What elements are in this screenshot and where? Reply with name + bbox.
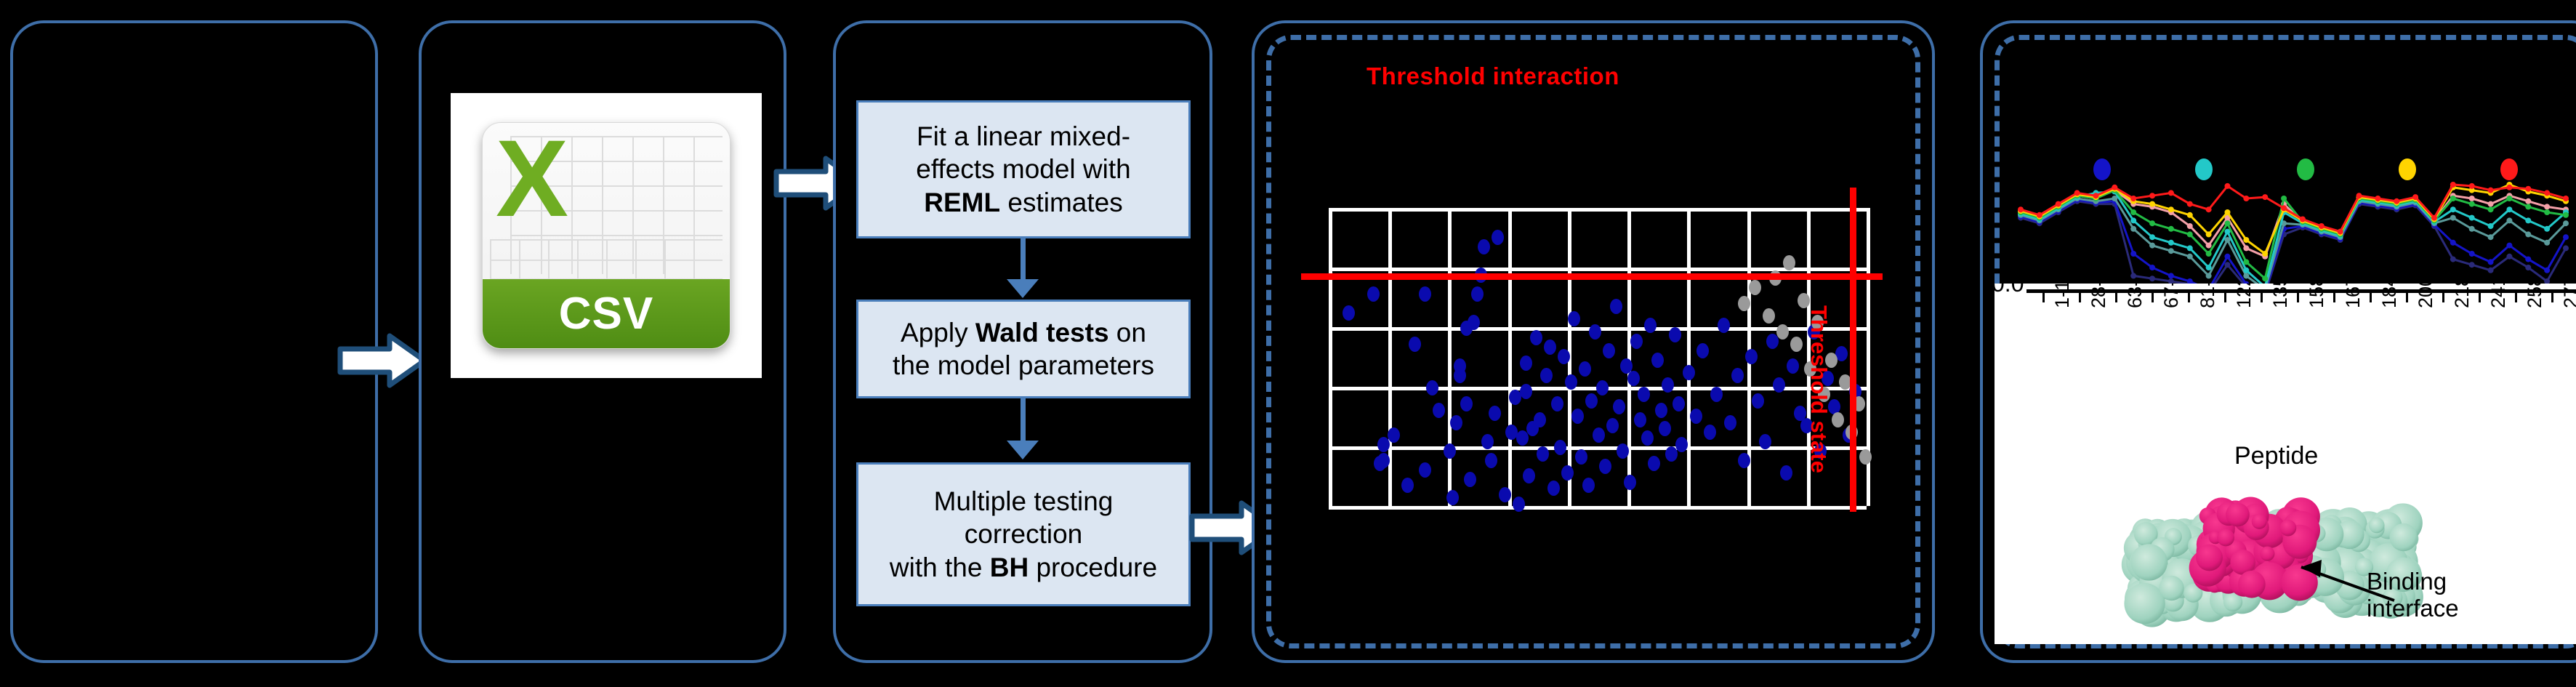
binding-interface-atom	[2217, 529, 2234, 547]
scatter-point	[1690, 409, 1702, 424]
x-axis-tick	[2479, 289, 2481, 302]
series-marker	[2224, 220, 2230, 226]
series-marker	[2450, 257, 2456, 262]
step2-bold-wald: Wald tests	[975, 318, 1109, 347]
series-red-legend-dot	[2500, 158, 2518, 180]
series-marker	[2431, 215, 2437, 221]
x-axis-tick	[2297, 289, 2299, 302]
series-marker	[2262, 251, 2268, 257]
series-marker	[2412, 194, 2418, 200]
grid-line-h	[1329, 446, 1867, 450]
series-marker	[2187, 245, 2193, 251]
x-axis-title: Peptide	[2234, 442, 2318, 470]
series-marker	[2563, 220, 2569, 226]
scatter-point	[1478, 239, 1490, 254]
scatter-point	[1641, 430, 1654, 446]
series-marker	[2563, 234, 2569, 240]
x-axis-tick-label: 277-284	[2560, 284, 2576, 308]
threshold-interaction-line	[1301, 273, 1883, 280]
series-marker	[2319, 223, 2325, 229]
step3-bold-bh: BH	[990, 553, 1029, 582]
x-axis-tick-label: 167-180	[2342, 284, 2364, 308]
series-marker	[2394, 198, 2399, 204]
scatter-point	[1627, 371, 1640, 386]
series-marker	[2469, 262, 2475, 268]
scatter-point	[1547, 481, 1560, 496]
scatter-point	[1613, 399, 1625, 414]
scatter-point	[1752, 393, 1764, 409]
binding-interface-atom	[2226, 503, 2250, 527]
step1-tail: estimates	[1000, 188, 1123, 217]
series-marker	[2469, 183, 2475, 189]
csv-format-label: CSV	[559, 288, 653, 340]
scatter-point	[1444, 443, 1456, 459]
scatter-point	[1551, 396, 1563, 411]
series-marker	[2300, 217, 2306, 222]
series-marker	[2544, 209, 2550, 215]
series-marker	[2056, 201, 2061, 207]
protein-surface-atom	[2159, 576, 2183, 600]
series-marker	[2187, 212, 2193, 218]
series-line	[2021, 192, 2566, 287]
series-marker	[2130, 209, 2136, 215]
series-marker	[2563, 245, 2569, 251]
scatter-point	[1454, 358, 1466, 374]
series-marker	[2281, 205, 2287, 211]
protein-surface-atom	[2130, 544, 2167, 580]
series-marker	[2168, 226, 2174, 232]
series-marker	[2112, 185, 2117, 190]
series-marker	[2469, 226, 2475, 232]
series-marker	[2525, 198, 2531, 204]
series-marker	[2506, 196, 2512, 201]
grid-line-h	[1329, 506, 1867, 510]
process-step-wald-tests[interactable]: Apply Wald tests on the model parameters	[856, 300, 1191, 398]
scatter-point	[1718, 318, 1730, 333]
scatter-point	[1516, 430, 1529, 446]
results-figure-card: 0.0 1-1528-4463-7367-7581-101122-129135-…	[1995, 284, 2576, 644]
series-marker	[2206, 251, 2212, 257]
scatter-point	[1582, 478, 1595, 493]
scatter-point	[1780, 465, 1792, 481]
series-marker	[2243, 273, 2249, 278]
series-marker	[2243, 196, 2249, 201]
series-marker	[2224, 254, 2230, 260]
binding-interface-atom	[2238, 571, 2266, 598]
protein-surface-atom	[2124, 583, 2165, 624]
series-marker	[2187, 231, 2193, 237]
protein-surface-structure	[2016, 478, 2423, 631]
x-axis-tick	[2079, 289, 2081, 302]
connector-step1-step2	[1021, 238, 1026, 281]
series-marker	[2525, 257, 2531, 262]
scatter-point	[1610, 299, 1622, 314]
x-axis-tick	[2442, 289, 2444, 302]
series-marker	[2262, 276, 2268, 281]
scatter-point	[1565, 374, 1577, 390]
scatter-point	[1759, 434, 1771, 449]
x-axis-tick	[2224, 289, 2226, 302]
scatter-point	[1513, 497, 1525, 512]
series-marker	[2450, 196, 2456, 201]
series-marker	[2525, 217, 2531, 223]
series-marker	[2525, 204, 2531, 209]
scatter-point	[1554, 440, 1566, 455]
series-marker	[2563, 196, 2569, 201]
x-axis-tick-label: 158-166	[2306, 284, 2328, 308]
scatter-point	[1520, 384, 1532, 399]
x-axis-tick-label: 241-257	[2487, 284, 2510, 308]
x-axis-tick-label: 28-44	[2088, 284, 2110, 308]
series-marker	[2450, 215, 2456, 221]
series-marker	[2130, 226, 2136, 232]
scatter-point	[1523, 468, 1535, 483]
series-marker	[2506, 254, 2512, 260]
series-dark-blue-legend-dot	[2093, 158, 2111, 180]
process-step-fit-model[interactable]: Fit a linear mixed- effects model with R…	[856, 100, 1191, 238]
step2-tail: on	[1109, 318, 1146, 347]
grid-line-h	[1329, 208, 1867, 212]
x-axis-tick-label: 184-199	[2378, 284, 2401, 308]
series-marker	[2187, 254, 2193, 260]
scatter-point	[1426, 380, 1438, 395]
grid-line-v	[1508, 208, 1512, 506]
scatter-point	[1599, 459, 1611, 474]
series-marker	[2168, 273, 2174, 278]
scatter-point	[1481, 434, 1494, 449]
scatter-point	[1568, 311, 1580, 326]
series-marker	[2488, 223, 2494, 229]
series-marker	[2187, 223, 2193, 229]
series-marker	[2450, 182, 2456, 188]
binding-interface-atom	[2252, 514, 2267, 529]
x-axis-tick-label: 63-73	[2124, 284, 2146, 308]
scatter-point	[1579, 361, 1591, 377]
y-axis-zero-label: 0.0	[1995, 284, 2024, 297]
series-marker	[2168, 206, 2174, 212]
series-marker	[2506, 217, 2512, 223]
scatter-point	[1377, 437, 1390, 452]
x-axis-tick-label: 200-214	[2415, 284, 2437, 308]
series-marker	[2525, 265, 2531, 270]
series-marker	[2525, 231, 2531, 237]
x-axis-tick	[2333, 289, 2335, 302]
threshold-state-line	[1850, 188, 1856, 512]
series-marker	[2262, 194, 2268, 200]
scatter-point	[1433, 403, 1445, 418]
grid-line-v	[1448, 208, 1452, 506]
scatter-point	[1534, 412, 1546, 427]
threshold-state-label: Threshold state	[1806, 305, 1832, 473]
scatter-point	[1540, 368, 1553, 383]
series-marker	[2488, 201, 2494, 207]
step3-line1: Multiple testing	[934, 486, 1114, 516]
grid-line-v	[1687, 208, 1691, 506]
series-marker	[2488, 259, 2494, 265]
x-axis-tick-label: 122-129	[2233, 284, 2255, 308]
scatter-point	[1651, 353, 1664, 368]
scatter-point	[1673, 396, 1685, 411]
series-marker	[2149, 265, 2155, 270]
scatter-point	[1638, 387, 1650, 402]
step2-line2: the model parameters	[893, 350, 1154, 380]
scatter-point	[1575, 449, 1587, 465]
scatter-point	[1589, 324, 1601, 340]
scatter-point	[1388, 427, 1400, 443]
series-cyan-legend-dot	[2195, 158, 2213, 180]
scatter-point	[1731, 368, 1744, 383]
connector-arrowhead-1	[1007, 279, 1039, 298]
scatter-point	[1749, 280, 1761, 295]
series-marker	[2544, 204, 2550, 209]
scatter-point	[1648, 456, 1660, 471]
series-marker	[2281, 196, 2287, 201]
connector-arrowhead-2	[1007, 441, 1039, 459]
x-axis-tick	[2551, 289, 2553, 302]
series-marker	[2074, 190, 2080, 196]
step3-line3-lead: with the	[890, 553, 990, 582]
series-marker	[2450, 206, 2456, 212]
series-marker	[2243, 237, 2249, 243]
x-axis-tick	[2515, 289, 2517, 302]
binding-label-line2: interface	[2367, 595, 2459, 622]
scatter-point	[1520, 355, 1532, 371]
connector-step2-step3	[1021, 398, 1026, 442]
series-marker	[2224, 183, 2230, 189]
scatter-point	[1606, 418, 1619, 433]
scatter-point	[1499, 487, 1511, 502]
series-marker	[2224, 209, 2230, 215]
x-axis-tick-label: 1-15	[2051, 284, 2074, 308]
series-line	[2021, 185, 2566, 254]
scatter-point	[1724, 415, 1736, 430]
scatter-point	[1492, 230, 1504, 245]
binding-label-line1: Binding	[2367, 569, 2459, 595]
csv-file-icon: X CSV	[451, 93, 762, 378]
series-marker	[2168, 190, 2174, 196]
scatter-point	[1409, 337, 1421, 352]
scatter-point	[1710, 387, 1723, 402]
series-marker	[2544, 268, 2550, 273]
scatter-point	[1419, 462, 1431, 478]
scatter-point	[1593, 427, 1605, 443]
series-marker	[2544, 226, 2550, 232]
series-marker	[2506, 243, 2512, 249]
x-axis-tick	[2042, 289, 2045, 302]
excel-x-letter-icon: X	[496, 127, 568, 229]
scatter-plot	[1329, 208, 1867, 506]
step3-line3-tail: procedure	[1029, 553, 1157, 582]
series-marker	[2130, 251, 2136, 257]
series-marker	[2544, 240, 2550, 246]
scatter-point	[1561, 465, 1574, 481]
binding-interface-atom	[2260, 547, 2274, 561]
scatter-point	[1696, 343, 1709, 358]
series-marker	[2243, 245, 2249, 251]
series-marker	[2488, 268, 2494, 273]
step3-line2: correction	[965, 519, 1082, 549]
scatter-point	[1596, 380, 1609, 395]
series-marker	[2338, 229, 2343, 235]
scatter-point	[1401, 478, 1414, 493]
series-marker	[2469, 215, 2475, 221]
scatter-point	[1773, 377, 1785, 393]
series-marker	[2206, 273, 2212, 278]
series-legend-dots	[2093, 158, 2544, 180]
threshold-interaction-label: Threshold interaction	[1367, 63, 1619, 90]
series-marker	[2450, 240, 2456, 246]
x-axis-tick-label: 258-266	[2524, 284, 2546, 308]
scatter-point	[1544, 340, 1556, 355]
series-marker	[2168, 248, 2174, 254]
series-marker	[2224, 262, 2230, 268]
series-marker	[2525, 186, 2531, 192]
scatter-point	[1790, 337, 1803, 352]
series-marker	[2488, 234, 2494, 240]
series-marker	[2149, 193, 2155, 198]
series-marker	[2563, 212, 2569, 218]
series-marker	[2206, 265, 2212, 270]
scatter-point	[1617, 443, 1629, 459]
scatter-point	[1787, 358, 1799, 374]
scatter-point	[1655, 403, 1667, 418]
series-marker	[2206, 243, 2212, 249]
x-axis-tick	[2115, 289, 2117, 302]
scatter-point	[1738, 453, 1750, 468]
x-axis-tick-label: 135-144	[2269, 284, 2292, 308]
series-marker	[2356, 193, 2362, 198]
protein-surface-atom	[2390, 523, 2418, 551]
series-marker	[2243, 259, 2249, 265]
scatter-point	[1468, 315, 1480, 330]
scatter-point	[1776, 324, 1789, 340]
scatter-point	[1659, 421, 1671, 436]
series-marker	[2130, 217, 2136, 223]
scatter-point	[1450, 415, 1462, 430]
series-marker	[2149, 201, 2155, 207]
series-marker	[2149, 234, 2155, 240]
protein-surface-atom	[2369, 518, 2385, 534]
series-marker	[2469, 251, 2475, 257]
process-step-multiple-testing[interactable]: Multiple testing correction with the BH …	[856, 462, 1191, 606]
scatter-point	[1624, 475, 1636, 490]
csv-format-band: CSV	[483, 279, 730, 348]
x-axis-tick-label: 67-75	[2160, 284, 2183, 308]
scatter-point	[1683, 365, 1695, 380]
scatter-point	[1460, 396, 1473, 411]
series-green-legend-dot	[2297, 158, 2314, 180]
series-marker	[2488, 188, 2494, 193]
scatter-point	[1343, 305, 1355, 321]
scatter-point	[1537, 446, 1549, 462]
series-marker	[2093, 193, 2098, 198]
series-marker	[2206, 206, 2212, 212]
scatter-point	[1745, 349, 1758, 364]
workflow-diagram: X CSV Fit a linear mixed- effects model …	[0, 0, 2576, 687]
series-marker	[2018, 206, 2024, 212]
step1-line1: Fit a linear mixed-	[917, 121, 1130, 151]
scatter-point	[1704, 425, 1716, 440]
scatter-point	[1419, 286, 1431, 302]
grid-line-v	[1627, 208, 1631, 506]
series-marker	[2506, 206, 2512, 212]
grid-line-v	[1329, 208, 1332, 506]
scatter-point	[1471, 286, 1484, 302]
scatter-point	[1571, 409, 1584, 424]
scatter-point	[1446, 490, 1459, 505]
series-marker	[2130, 273, 2136, 278]
scatter-point	[1464, 472, 1476, 487]
data-collection-panel	[10, 20, 378, 663]
binding-interface-atom	[2280, 520, 2297, 537]
series-marker	[2130, 196, 2136, 201]
scatter-point	[1367, 286, 1380, 302]
x-axis-tick	[2152, 289, 2154, 302]
x-axis-tick	[2370, 289, 2372, 302]
binding-interface-annotation: Binding interface	[2367, 569, 2459, 622]
series-marker	[2488, 206, 2494, 212]
scatter-point	[1377, 453, 1390, 468]
x-axis-tick	[2188, 289, 2190, 302]
series-marker	[2168, 240, 2174, 246]
scatter-point	[1630, 334, 1643, 349]
series-marker	[2544, 190, 2550, 196]
x-axis-tick-label: 81-101	[2197, 284, 2219, 308]
series-marker	[2469, 196, 2475, 201]
series-marker	[2206, 231, 2212, 237]
arrow-to-csv-icon	[337, 333, 427, 388]
scatter-point	[1530, 330, 1542, 345]
scatter-point	[1766, 334, 1779, 349]
scatter-point	[1763, 308, 1775, 324]
series-marker	[2243, 268, 2249, 273]
binding-interface-atom	[2196, 545, 2223, 571]
series-marker	[2149, 220, 2155, 226]
scatter-point	[1669, 327, 1681, 342]
x-axis-tick-label: 218-237	[2451, 284, 2474, 308]
series-marker	[2037, 212, 2042, 218]
scatter-point	[1489, 406, 1501, 421]
scatter-point	[1634, 412, 1646, 427]
x-axis-tick	[2261, 289, 2263, 302]
scatter-point	[1603, 343, 1615, 358]
series-marker	[2187, 201, 2193, 207]
series-yellow-legend-dot	[2399, 158, 2416, 180]
series-marker	[2149, 276, 2155, 281]
scatter-point	[1832, 412, 1844, 427]
series-marker	[2506, 185, 2512, 190]
scatter-point	[1485, 453, 1497, 468]
series-marker	[2149, 243, 2155, 249]
step1-bold-reml: REML	[924, 188, 1000, 217]
series-marker	[2375, 196, 2380, 201]
series-marker	[2469, 201, 2475, 207]
scatter-point	[1585, 393, 1598, 409]
x-axis-tick	[2406, 289, 2408, 302]
step2-lead: Apply	[901, 318, 975, 347]
step1-line2: effects model with	[916, 154, 1130, 184]
